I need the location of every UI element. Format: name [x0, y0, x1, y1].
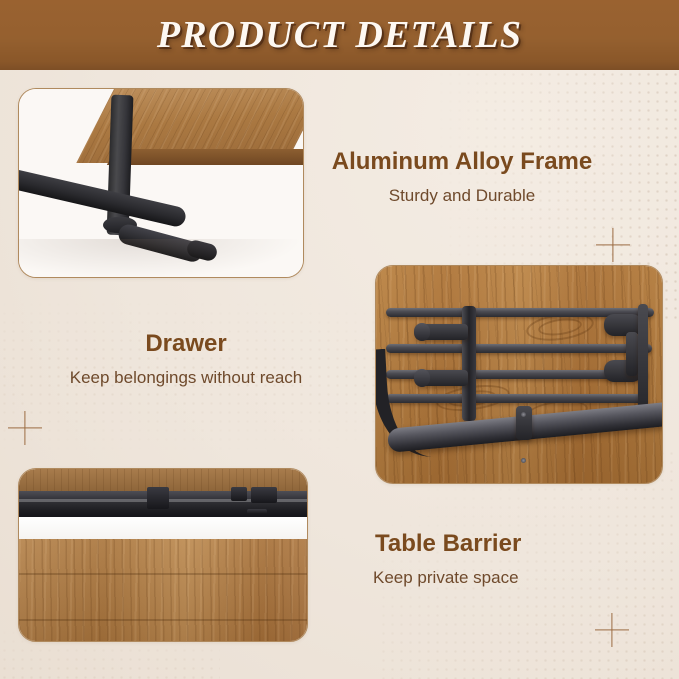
feature-text-aluminum-alloy-frame: Aluminum Alloy Frame Sturdy and Durable [322, 148, 602, 206]
feature-subtext: Keep belongings without reach [36, 368, 336, 388]
cross-mark-icon-left-middle [8, 411, 42, 445]
drawer-rail-bracket-center [147, 487, 169, 509]
feature-heading: Drawer [36, 330, 336, 358]
feature-subtext: Sturdy and Durable [322, 186, 602, 206]
table-leg-frame-photo [18, 88, 304, 278]
table-barrier-photo-inner [376, 266, 662, 483]
tabletop-edge [107, 149, 303, 165]
drawer-rail-bracket-right-2 [251, 487, 277, 503]
drawer-wood-panel [19, 539, 307, 641]
cross-mark-icon-right-upper [596, 228, 630, 262]
feature-text-table-barrier: Table Barrier Keep private space [373, 530, 663, 588]
cross-mark-icon-right-lower [595, 613, 629, 647]
wood-plank-seam [19, 573, 307, 575]
page-title: PRODUCT DETAILS [157, 13, 522, 57]
feature-heading: Table Barrier [373, 530, 663, 558]
photo-floor-shadow [19, 239, 303, 277]
drawer-photo [18, 468, 308, 642]
screw-head [521, 412, 526, 417]
screw-head [521, 458, 526, 463]
barrier-hinge-upper [414, 323, 430, 341]
drawer-rail-tab [247, 509, 267, 514]
table-barrier-photo [375, 265, 663, 484]
feature-text-drawer: Drawer Keep belongings without reach [36, 330, 336, 388]
feature-heading: Aluminum Alloy Frame [322, 148, 602, 176]
wood-plank-seam [19, 619, 307, 621]
feature-subtext: Keep private space [373, 568, 663, 588]
table-leg-frame-photo-inner [19, 89, 303, 277]
product-details-infographic: PRODUCT DETAILS Aluminum Alloy Frame Stu… [0, 0, 679, 679]
drawer-rail-bracket-right [231, 487, 247, 501]
header-banner: PRODUCT DETAILS [0, 0, 679, 70]
barrier-end-post [626, 332, 638, 376]
wood-grain-texture [19, 539, 307, 641]
drawer-photo-inner [19, 469, 307, 641]
